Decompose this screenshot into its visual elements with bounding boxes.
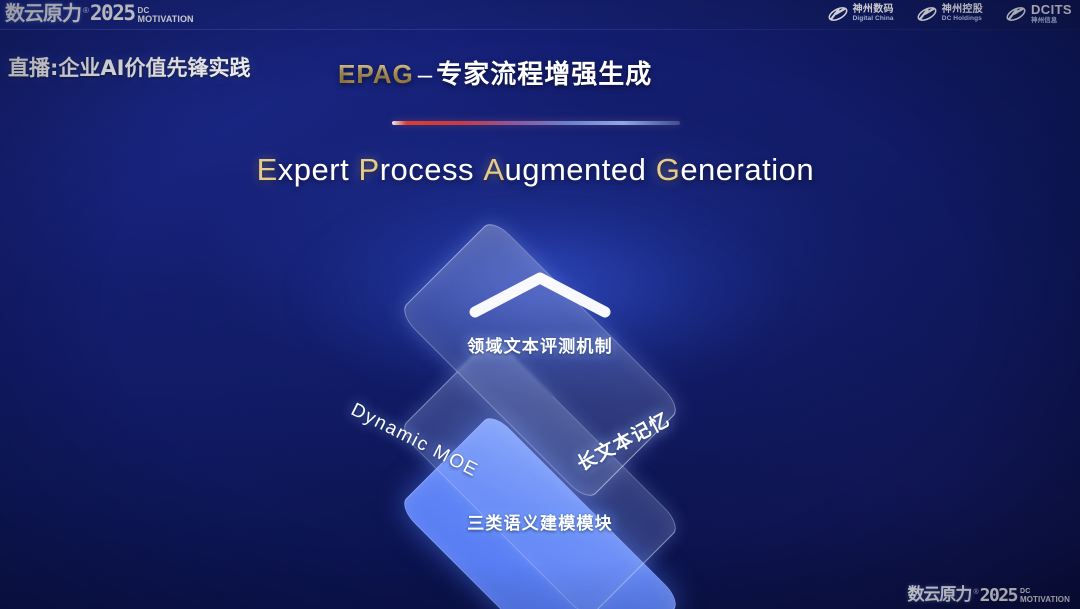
watermark-motivation-label: MOTIVATION	[1020, 596, 1070, 604]
partner-text: 神州控股 DC Holdings	[942, 5, 983, 23]
brand-registered-mark: ®	[83, 5, 89, 17]
subtitle-word-augmented: Augmented	[483, 152, 646, 187]
chevron-up-icon	[465, 268, 615, 320]
brand-motivation-label: MOTIVATION	[137, 15, 193, 23]
subtitle-word-generation: Generation	[656, 152, 814, 187]
title-chinese: 专家流程增强生成	[436, 60, 652, 90]
partner-name-en: DC Holdings	[942, 14, 983, 23]
watermark-year: 2025	[980, 586, 1017, 605]
layer-top-label: 领域文本评测机制	[467, 332, 613, 357]
partner-text: 神州数码 Digital China	[853, 5, 894, 23]
partner-text: DCITS 神州信息	[1031, 3, 1072, 25]
subtitle-word-process: Process	[359, 152, 475, 187]
brand-logo: 数云原力 ® 2025 DC MOTIVATION	[5, 2, 194, 24]
subtitle-rest-generation: eneration	[680, 152, 814, 187]
watermark-name-cn: 数云原力	[907, 586, 971, 605]
subtitle-rest-expert: xpert	[278, 152, 349, 187]
partner-logo-digital-china: 神州数码 Digital China	[827, 4, 894, 24]
layer-bottom-label: 三类语义建模模块	[467, 509, 613, 534]
gradient-divider	[392, 121, 680, 125]
subtitle-rest-augmented: ugmented	[505, 152, 647, 187]
partner-name-cn: 神州控股	[942, 5, 983, 14]
partner-logo-group: 神州数码 Digital China 神州控股 DC Holdings DCIT…	[827, 3, 1072, 25]
watermark-registered-mark: ®	[973, 587, 978, 599]
title-dash: –	[414, 59, 436, 89]
swoosh-icon	[1005, 4, 1027, 24]
brand-name-cn: 数云原力	[5, 2, 81, 24]
brand-year: 2025	[90, 2, 135, 24]
title-acronym: EPAG	[338, 59, 414, 89]
swoosh-icon	[916, 4, 938, 24]
partner-name-en: DCITS	[1031, 3, 1072, 16]
subtitle-cap-a: A	[483, 152, 504, 187]
partner-name-en: Digital China	[853, 14, 894, 23]
subtitle-cap-g: G	[656, 152, 681, 187]
subtitle-cap-e: E	[257, 152, 278, 187]
partner-name-cn: 神州信息	[1031, 16, 1072, 25]
watermark-dc-motivation: DC MOTIVATION	[1020, 588, 1070, 605]
subtitle-rest-process: rocess	[380, 152, 474, 187]
subtitle-cap-p: P	[359, 152, 380, 187]
partner-logo-dc-holdings: 神州控股 DC Holdings	[916, 4, 983, 24]
live-stream-label: 直播:企业AI价值先锋实践	[8, 52, 250, 82]
subtitle-expansion: ExpertProcessAugmentedGeneration	[0, 152, 1080, 188]
brand-dc-motivation: DC MOTIVATION	[137, 7, 193, 24]
partner-name-cn: 神州数码	[853, 5, 894, 14]
page-title: EPAG–专家流程增强生成	[338, 54, 652, 91]
swoosh-icon	[827, 4, 849, 24]
watermark-logo: 数云原力 ® 2025 DC MOTIVATION	[907, 586, 1070, 605]
presentation-slide: 数云原力 ® 2025 DC MOTIVATION 神州数码 Digital C…	[0, 0, 1080, 609]
subtitle-word-expert: Expert	[257, 152, 350, 187]
partner-logo-dcits: DCITS 神州信息	[1005, 3, 1072, 25]
